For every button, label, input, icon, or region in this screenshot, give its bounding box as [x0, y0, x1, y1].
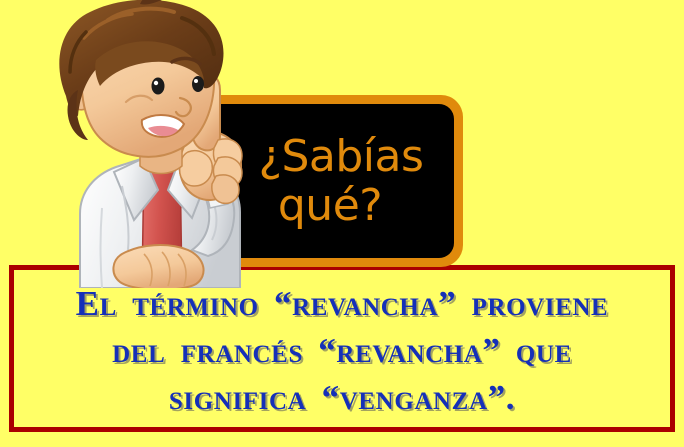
- fact-line-3: significa “venganza”.: [14, 374, 670, 421]
- fact-line-2: del francés “revancha” que: [14, 327, 670, 374]
- poster-canvas: ¿Sabías qué? El término “revancha” provi…: [0, 0, 684, 447]
- eye-right: [192, 76, 204, 92]
- sign-line-1: ¿Sabías: [259, 132, 424, 181]
- eye-left: [152, 78, 165, 95]
- cartoon-boy-pointing-icon: [22, 0, 272, 288]
- resting-hand-icon: [113, 245, 203, 288]
- fact-text-block: El término “revancha” proviene del franc…: [14, 280, 670, 421]
- head-icon: [59, 0, 223, 157]
- sign-line-2: qué?: [278, 181, 382, 230]
- fact-box: El término “revancha” proviene del franc…: [9, 265, 675, 432]
